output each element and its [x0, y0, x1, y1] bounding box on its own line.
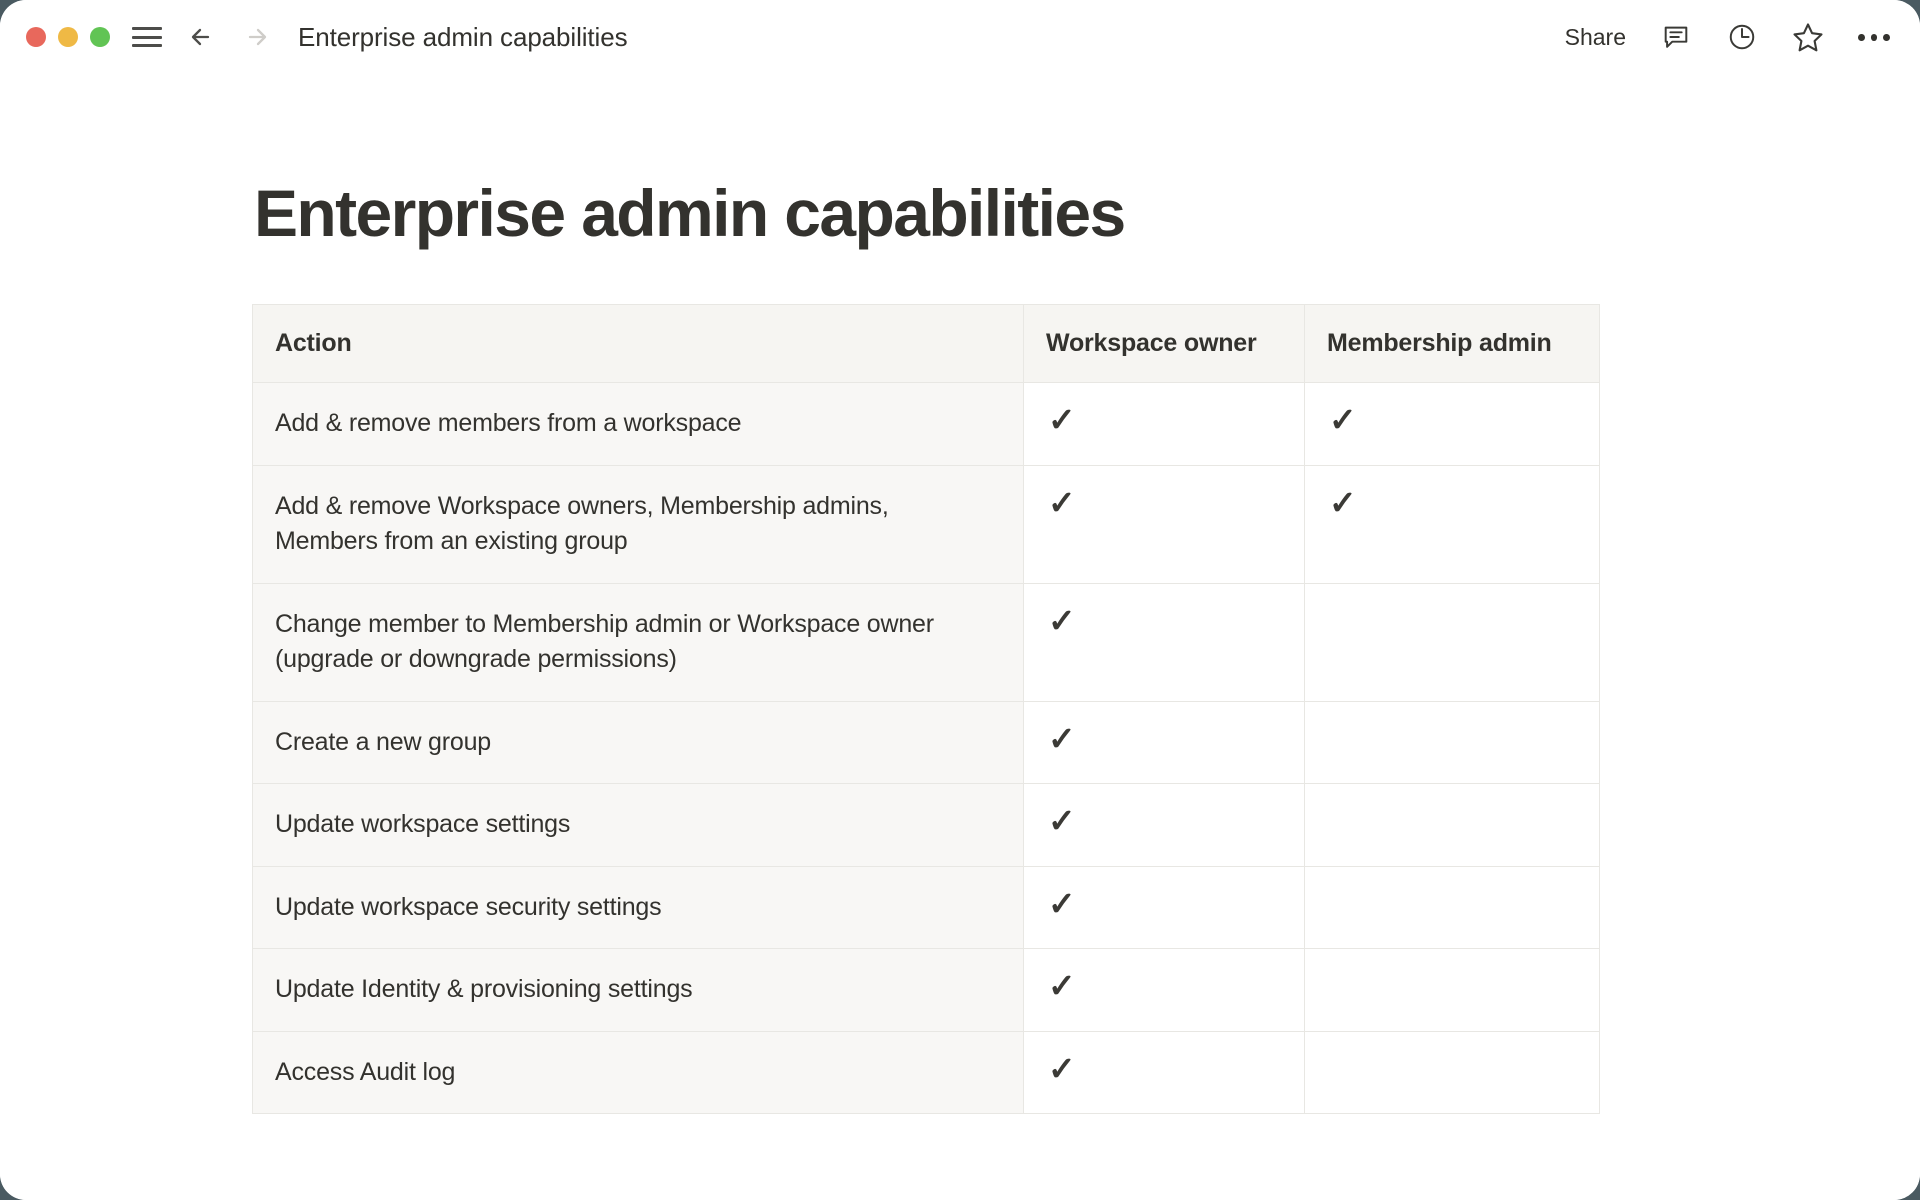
toolbar-document-title: Enterprise admin capabilities	[298, 22, 628, 53]
check-icon: ✓	[1048, 1052, 1076, 1085]
arrow-left-icon[interactable]	[188, 22, 218, 52]
table-row: Add & remove members from a workspace ✓ …	[253, 383, 1600, 466]
check-icon: ✓	[1048, 887, 1076, 920]
check-icon: ✓	[1329, 486, 1357, 519]
check-icon: ✓	[1048, 604, 1076, 637]
cell-workspace-owner: ✓	[1024, 866, 1305, 949]
cell-action: Add & remove Workspace owners, Membershi…	[253, 465, 1024, 583]
cell-workspace-owner: ✓	[1024, 465, 1305, 583]
table-row: Add & remove Workspace owners, Membershi…	[253, 465, 1600, 583]
star-icon[interactable]	[1792, 21, 1824, 53]
document-body: Enterprise admin capabilities Action Wor…	[0, 74, 1920, 1200]
hamburger-line	[132, 36, 162, 39]
more-horizontal-icon[interactable]	[1858, 21, 1890, 53]
traffic-lights	[26, 27, 110, 47]
column-header-workspace-owner: Workspace owner	[1024, 305, 1305, 383]
check-icon: ✓	[1048, 486, 1076, 519]
minimize-window-button[interactable]	[58, 27, 78, 47]
navigation-arrows	[188, 22, 270, 52]
cell-action: Add & remove members from a workspace	[253, 383, 1024, 466]
cell-membership-admin	[1305, 701, 1600, 784]
cell-action: Update workspace settings	[253, 784, 1024, 867]
cell-workspace-owner: ✓	[1024, 701, 1305, 784]
cell-membership-admin: ✓	[1305, 465, 1600, 583]
clock-history-icon[interactable]	[1726, 21, 1758, 53]
check-icon: ✓	[1048, 804, 1076, 837]
check-icon: ✓	[1048, 722, 1076, 755]
share-button[interactable]: Share	[1565, 24, 1626, 51]
table-row: Update workspace security settings ✓	[253, 866, 1600, 949]
close-window-button[interactable]	[26, 27, 46, 47]
cell-workspace-owner: ✓	[1024, 1031, 1305, 1114]
hamburger-line	[132, 44, 162, 47]
table-header-row: Action Workspace owner Membership admin	[253, 305, 1600, 383]
table-body: Add & remove members from a workspace ✓ …	[253, 383, 1600, 1114]
cell-action: Change member to Membership admin or Wor…	[253, 583, 1024, 701]
table-row: Update workspace settings ✓	[253, 784, 1600, 867]
cell-workspace-owner: ✓	[1024, 583, 1305, 701]
cell-action: Update workspace security settings	[253, 866, 1024, 949]
table-header: Action Workspace owner Membership admin	[253, 305, 1600, 383]
capabilities-table: Action Workspace owner Membership admin …	[252, 304, 1600, 1114]
toolbar-actions: Share	[1565, 21, 1890, 53]
cell-membership-admin	[1305, 949, 1600, 1032]
table-row: Update Identity & provisioning settings …	[253, 949, 1600, 1032]
table-row: Access Audit log ✓	[253, 1031, 1600, 1114]
more-dot	[1883, 34, 1890, 41]
cell-membership-admin	[1305, 583, 1600, 701]
more-dot	[1858, 34, 1865, 41]
check-icon: ✓	[1048, 969, 1076, 1002]
hamburger-icon[interactable]	[132, 25, 162, 49]
cell-action: Update Identity & provisioning settings	[253, 949, 1024, 1032]
table-row: Change member to Membership admin or Wor…	[253, 583, 1600, 701]
cell-membership-admin	[1305, 784, 1600, 867]
column-header-action: Action	[253, 305, 1024, 383]
check-icon: ✓	[1048, 403, 1076, 436]
hamburger-line	[132, 27, 162, 30]
table-row: Create a new group ✓	[253, 701, 1600, 784]
cell-action: Access Audit log	[253, 1031, 1024, 1114]
cell-action: Create a new group	[253, 701, 1024, 784]
cell-membership-admin	[1305, 866, 1600, 949]
cell-membership-admin	[1305, 1031, 1600, 1114]
page-title: Enterprise admin capabilities	[254, 177, 1125, 250]
column-header-membership-admin: Membership admin	[1305, 305, 1600, 383]
more-dot	[1871, 34, 1878, 41]
comment-bubble-icon[interactable]	[1660, 21, 1692, 53]
maximize-window-button[interactable]	[90, 27, 110, 47]
cell-membership-admin: ✓	[1305, 383, 1600, 466]
check-icon: ✓	[1329, 403, 1357, 436]
arrow-right-icon[interactable]	[240, 22, 270, 52]
cell-workspace-owner: ✓	[1024, 383, 1305, 466]
cell-workspace-owner: ✓	[1024, 784, 1305, 867]
window-toolbar: Enterprise admin capabilities Share	[0, 0, 1920, 74]
app-window: Enterprise admin capabilities Share	[0, 0, 1920, 1200]
cell-workspace-owner: ✓	[1024, 949, 1305, 1032]
